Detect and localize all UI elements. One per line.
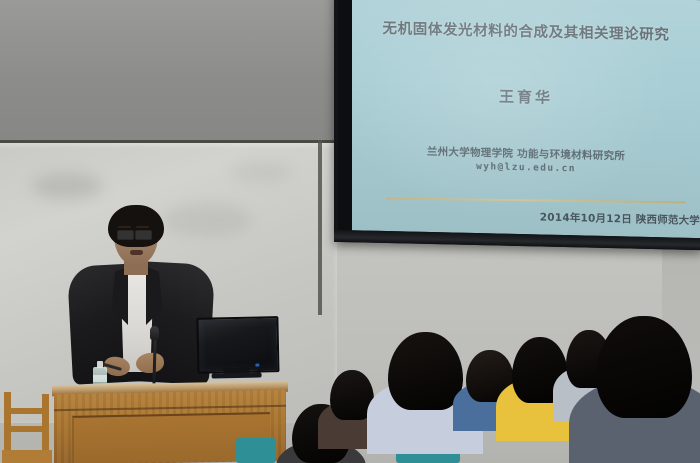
monitor-power-led [255, 364, 259, 367]
slide-speaker-name: 王育华 [352, 82, 700, 111]
whiteboard-frame-right [318, 140, 322, 315]
bottle-label [93, 375, 107, 382]
chair-seat [2, 450, 52, 463]
projection-screen: 无机固体发光材料的合成及其相关理论研究 王育华 兰州大学物理学院 功能与环境材料… [334, 0, 700, 250]
audience-chair-back [236, 438, 276, 463]
slide-title: 无机固体发光材料的合成及其相关理论研究 [352, 16, 700, 45]
slide-divider-rule [386, 197, 686, 203]
presenter-mouth [130, 250, 143, 255]
projection-screen-frame: 无机固体发光材料的合成及其相关理论研究 王育华 兰州大学物理学院 功能与环境材料… [338, 0, 698, 244]
monitor-screen [196, 316, 279, 374]
slide-date-venue: 2014年10月12日 陕西师范大学 [352, 205, 700, 228]
wooden-chair [2, 392, 52, 463]
podium-seam [54, 405, 286, 411]
microphone-head [150, 326, 159, 340]
monitor-foot [212, 372, 262, 378]
lecture-hall-photo: 无机固体发光材料的合成及其相关理论研究 王育华 兰州大学物理学院 功能与环境材料… [0, 0, 700, 463]
slide-date-venue-text: 2014年10月12日 陕西师范大学 [370, 208, 700, 227]
lcd-monitor [196, 316, 275, 380]
presenter-eyeglasses-left [117, 230, 134, 240]
presenter-eyeglasses-right [135, 230, 152, 240]
slide-surface: 无机固体发光材料的合成及其相关理论研究 王育华 兰州大学物理学院 功能与环境材料… [352, 0, 700, 238]
water-bottle [93, 361, 107, 387]
